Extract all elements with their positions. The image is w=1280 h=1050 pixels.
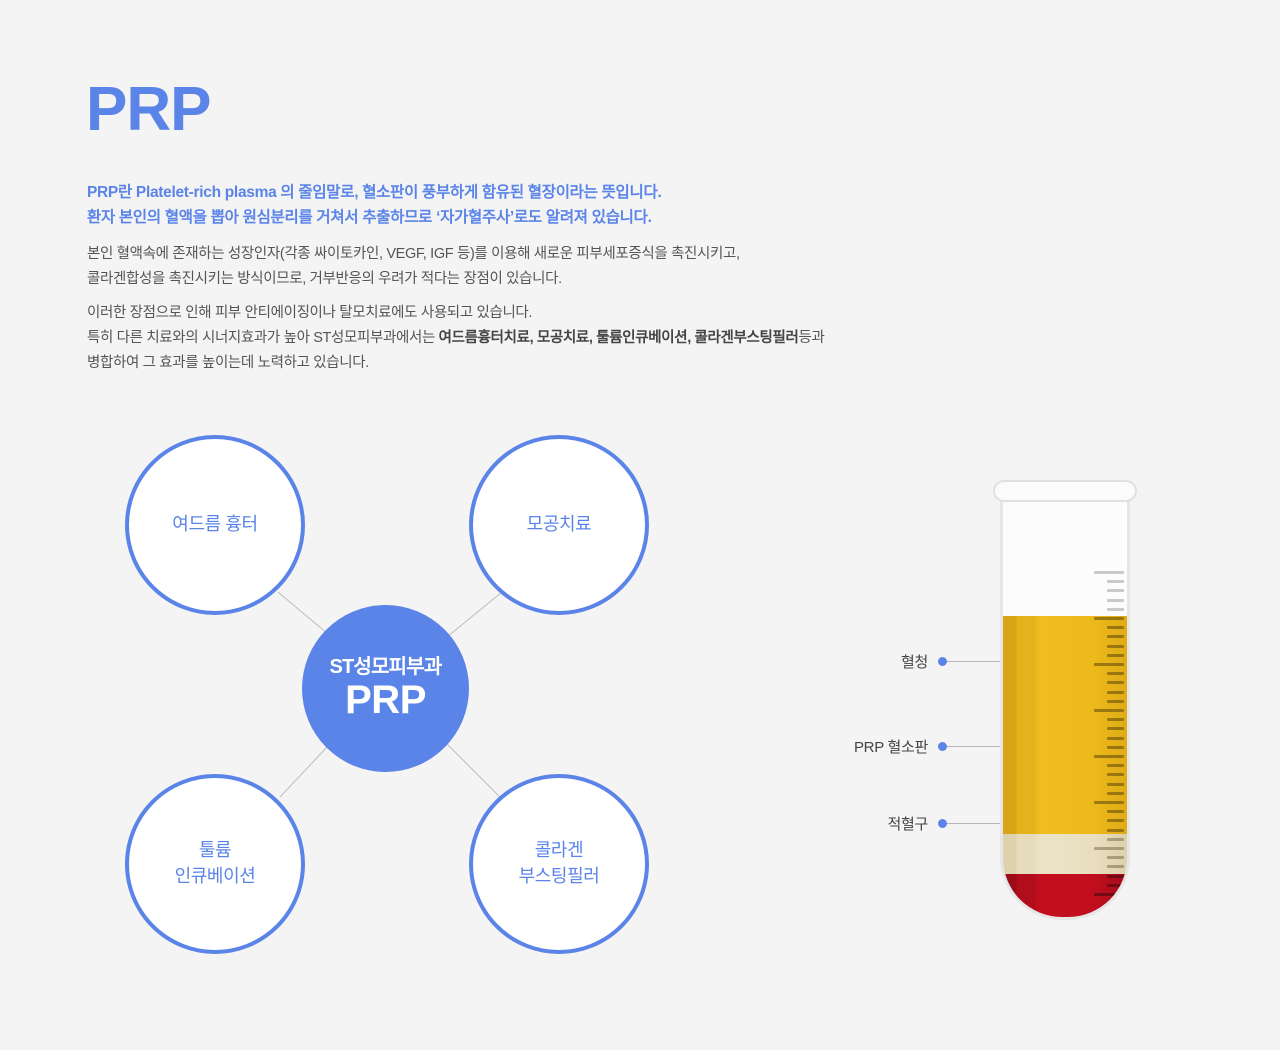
diagram-center-title: PRP [345, 679, 426, 721]
body-paragraph-2-line-2-post: 등과 [798, 330, 824, 346]
body-paragraph-1-line-1: 본인 혈액속에 존재하는 성장인자(각종 싸이토카인, VEGF, IGF 등)… [87, 246, 740, 262]
body-paragraph-1: 본인 혈액속에 존재하는 성장인자(각종 싸이토카인, VEGF, IGF 등)… [87, 242, 740, 292]
connector-bottom-left [280, 746, 328, 797]
test-tube-graduation-ticks [1090, 571, 1124, 911]
body-paragraph-2: 이러한 장점으로 인해 피부 안티에이징이나 탈모치료에도 사용되고 있습니다.… [87, 301, 824, 376]
callout-rbc-marker-icon [938, 819, 947, 828]
body-paragraph-2-treatments: 여드름흉터치료, 모공치료, 툴륨인큐베이션, 콜라겐부스팅필러 [439, 330, 799, 346]
body-paragraph-2-line-1: 이러한 장점으로 인해 피부 안티에이징이나 탈모치료에도 사용되고 있습니다. [87, 305, 532, 321]
diagram-node-collagen-line-1: 콜라겐 [535, 840, 583, 860]
diagram-node-pore-treatment[interactable]: 모공치료 [469, 435, 649, 615]
diagram-node-thulium-line-2: 인큐베이션 [175, 866, 256, 886]
page-title: PRP [86, 79, 210, 141]
diagram-center-node[interactable]: ST성모피부과 PRP [302, 605, 469, 772]
diagram-node-acne-scar-label: 여드름 흉터 [172, 512, 257, 538]
callout-rbc-label: 적혈구 [868, 813, 928, 834]
diagram-node-acne-scar[interactable]: 여드름 흉터 [125, 435, 305, 615]
diagram-node-thulium-line-1: 툴륨 [199, 840, 231, 860]
body-paragraph-1-line-2: 콜라겐합성을 촉진시키는 방식이므로, 거부반응의 우려가 적다는 장점이 있습… [87, 271, 562, 287]
callout-serum-marker-icon [938, 657, 947, 666]
callout-serum-label: 혈청 [868, 651, 928, 672]
diagram-node-collagen-line-2: 부스팅필러 [519, 866, 600, 886]
blood-separation-illustration: 혈청 PRP 혈소판 적혈구 [820, 460, 1180, 940]
lead-line-2: 환자 본인의 혈액을 뽑아 원심분리를 거쳐서 추출하므로 ‘자가혈주사’로도 … [87, 209, 652, 226]
diagram-node-thulium-incubation[interactable]: 툴륨 인큐베이션 [125, 774, 305, 954]
test-tube-body [1000, 496, 1130, 920]
test-tube [1000, 480, 1130, 920]
diagram-center-subtitle: ST성모피부과 [330, 657, 442, 677]
body-paragraph-2-line-2-pre: 특히 다른 치료와의 시너지효과가 높아 ST성모피부과에서는 [87, 330, 439, 346]
connector-top-left [278, 592, 328, 634]
callout-prp-marker-icon [938, 742, 947, 751]
connector-bottom-right [447, 744, 500, 797]
diagram-node-collagen-label: 콜라겐 부스팅필러 [519, 838, 600, 889]
diagram-node-thulium-incubation-label: 툴륨 인큐베이션 [175, 838, 256, 889]
body-paragraph-2-line-3: 병합하여 그 효과를 높이는데 노력하고 있습니다. [87, 355, 369, 371]
test-tube-rim [993, 480, 1137, 502]
prp-relationship-diagram: 여드름 흉터 모공치료 툴륨 인큐베이션 콜라겐 부스팅필러 ST성모피부과 P… [100, 420, 680, 950]
lead-paragraph: PRP란 Platelet-rich plasma 의 줄임말로, 혈소판이 풍… [87, 180, 661, 230]
diagram-node-pore-treatment-label: 모공치료 [527, 512, 592, 538]
lead-line-1: PRP란 Platelet-rich plasma 의 줄임말로, 혈소판이 풍… [87, 184, 661, 201]
diagram-node-collagen-booster-filler[interactable]: 콜라겐 부스팅필러 [469, 774, 649, 954]
callout-prp-label: PRP 혈소판 [820, 736, 928, 757]
connector-top-right [447, 592, 502, 637]
